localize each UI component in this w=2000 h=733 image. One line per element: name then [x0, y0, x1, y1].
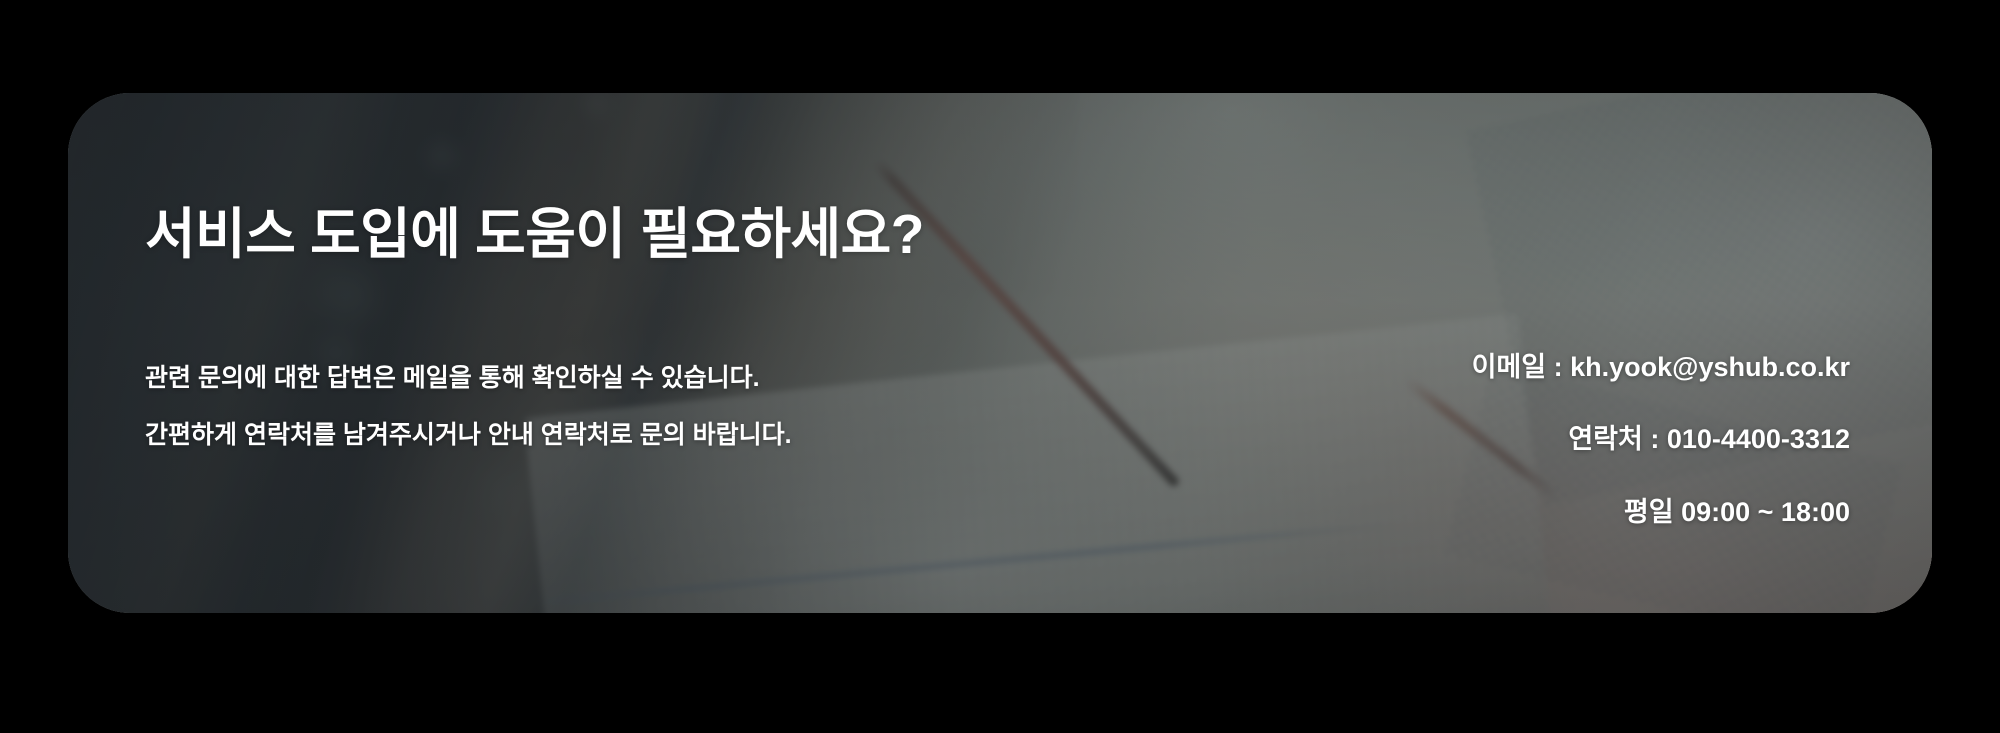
contact-cta-card: 서비스 도입에 도움이 필요하세요? 관련 문의에 대한 답변은 메일을 통해 …: [68, 93, 1932, 613]
body-text-block: 관련 문의에 대한 답변은 메일을 통해 확인하실 수 있습니다. 간편하게 연…: [145, 363, 792, 452]
contact-info-block: 이메일 : kh.yook@yshub.co.kr 연락처 : 010-4400…: [1472, 351, 1850, 528]
body-line-1: 관련 문의에 대한 답변은 메일을 통해 확인하실 수 있습니다.: [145, 363, 792, 394]
page-root: 서비스 도입에 도움이 필요하세요? 관련 문의에 대한 답변은 메일을 통해 …: [0, 0, 2000, 733]
body-line-2: 간편하게 연락처를 남겨주시거나 안내 연락처로 문의 바랍니다.: [145, 420, 792, 451]
page-title: 서비스 도입에 도움이 필요하세요?: [145, 206, 924, 264]
card-content: 서비스 도입에 도움이 필요하세요? 관련 문의에 대한 답변은 메일을 통해 …: [68, 93, 1932, 613]
contact-hours: 평일 09:00 ~ 18:00: [1624, 496, 1850, 528]
contact-email[interactable]: 이메일 : kh.yook@yshub.co.kr: [1472, 351, 1850, 383]
contact-phone[interactable]: 연락처 : 010-4400-3312: [1568, 423, 1850, 455]
